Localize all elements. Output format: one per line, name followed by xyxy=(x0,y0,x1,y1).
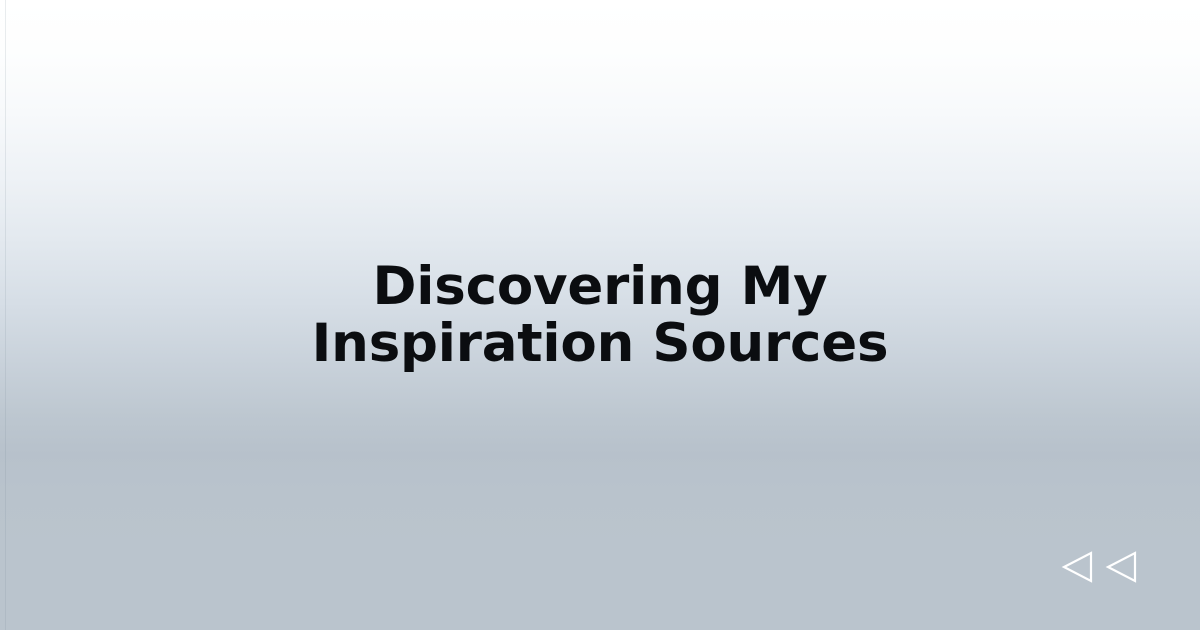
page-title: Discovering My Inspiration Sources xyxy=(270,258,930,372)
rewind-control[interactable] xyxy=(1058,547,1142,587)
slide-card: Discovering My Inspiration Sources xyxy=(0,0,1200,630)
triangle-left-icon[interactable] xyxy=(1058,547,1098,587)
title-container: Discovering My Inspiration Sources xyxy=(0,0,1200,630)
triangle-left-icon[interactable] xyxy=(1102,547,1142,587)
